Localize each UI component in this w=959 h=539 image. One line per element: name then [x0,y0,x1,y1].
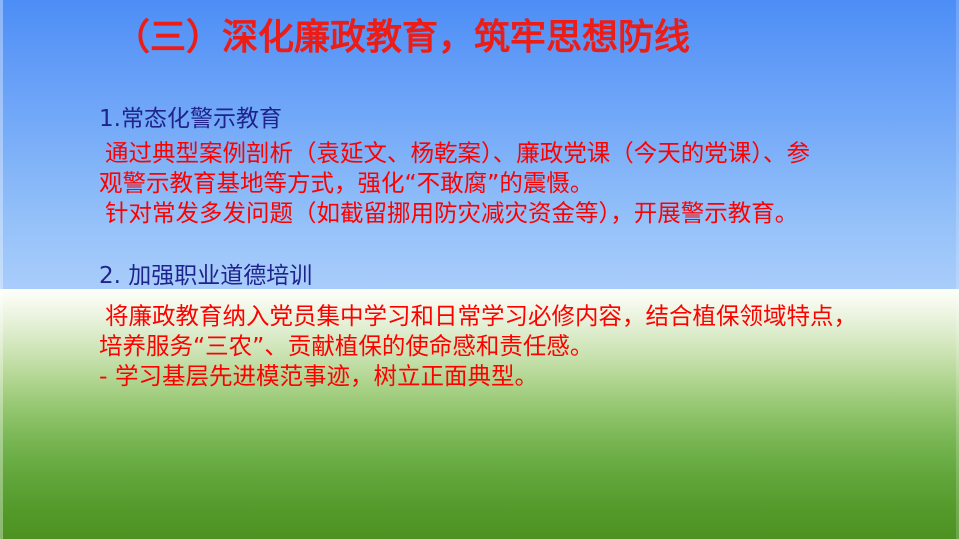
section-2-line-3: - 学习基层先进模范事迹，树立正面典型。 [99,361,889,391]
slide-content: （三）深化廉政教育，筑牢思想防线 1.常态化警示教育 通过典型案例剖析（袁延文、… [0,0,959,539]
spacer [99,291,889,301]
section-1-heading: 1.常态化警示教育 [99,104,889,134]
slide-title: （三）深化廉政教育，筑牢思想防线 [114,17,874,59]
section-spacer [99,228,889,261]
section-2-line-1: 将廉政教育纳入党员集中学习和日常学习必修内容，结合植保领域特点， [99,301,889,331]
section-2-line-2: 培养服务“三农”、贡献植保的使命感和责任感。 [99,331,889,361]
section-1-line-2: 观警示教育基地等方式，强化“不敢腐”的震慑。 [99,168,889,198]
section-1: 1.常态化警示教育 通过典型案例剖析（袁延文、杨乾案）、廉政党课（今天的党课）、… [99,104,889,228]
section-2-heading: 2. 加强职业道德培训 [99,261,889,291]
section-2: 2. 加强职业道德培训 将廉政教育纳入党员集中学习和日常学习必修内容，结合植保领… [99,261,889,391]
slide-canvas: （三）深化廉政教育，筑牢思想防线 1.常态化警示教育 通过典型案例剖析（袁延文、… [0,0,959,539]
section-1-line-1: 通过典型案例剖析（袁延文、杨乾案）、廉政党课（今天的党课）、参 [99,138,889,168]
slide-body: 1.常态化警示教育 通过典型案例剖析（袁延文、杨乾案）、廉政党课（今天的党课）、… [99,104,889,391]
section-1-line-3: 针对常发多发问题（如截留挪用防灾减灾资金等），开展警示教育。 [99,198,889,228]
